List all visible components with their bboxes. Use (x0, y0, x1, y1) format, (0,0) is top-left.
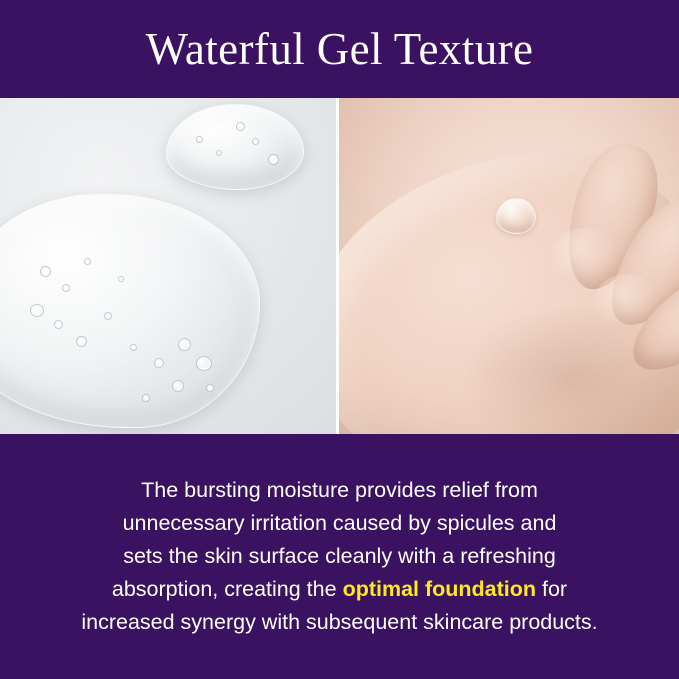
header-band: Waterful Gel Texture (0, 0, 679, 98)
image-band (0, 98, 679, 434)
caption-band: The bursting moisture provides relief fr… (0, 434, 679, 679)
bubble-icon (196, 136, 203, 143)
caption-line-4-before: absorption, creating the (112, 577, 343, 601)
gel-on-hand (336, 98, 679, 434)
bubble-icon (178, 338, 191, 351)
bubble-icon (268, 154, 279, 165)
bubble-icon (206, 384, 214, 392)
bubble-icon (154, 358, 164, 368)
bubble-icon (54, 320, 63, 329)
wrist-shadow (459, 304, 679, 434)
bubble-icon (40, 266, 51, 277)
caption-line-2: unnecessary irritation caused by spicule… (123, 511, 557, 535)
bubble-icon (172, 380, 184, 392)
bubble-icon (252, 138, 259, 145)
caption-line-3: sets the skin surface cleanly with a ref… (123, 544, 556, 568)
bubble-icon (130, 344, 137, 351)
caption-line-1: The bursting moisture provides relief fr… (141, 478, 538, 502)
panel-divider (336, 98, 339, 434)
bubble-icon (196, 356, 212, 371)
gel-texture-closeup (0, 98, 336, 434)
caption-highlight: optimal foundation (343, 577, 536, 601)
bubble-icon (104, 312, 112, 320)
caption-line-4-after: for (536, 577, 567, 601)
gel-droplet (496, 198, 536, 234)
bubble-icon (216, 150, 222, 156)
product-detail-card: Waterful Gel Texture (0, 0, 679, 679)
bubble-icon (76, 336, 87, 347)
bubble-icon (62, 284, 70, 292)
bubble-icon (236, 122, 245, 131)
bubble-icon (142, 394, 150, 402)
page-title: Waterful Gel Texture (146, 27, 534, 72)
bubble-icon (30, 304, 44, 317)
caption-line-5: increased synergy with subsequent skinca… (81, 610, 597, 634)
caption-text: The bursting moisture provides relief fr… (81, 474, 597, 639)
bubble-icon (84, 258, 91, 265)
bubble-icon (118, 276, 124, 282)
gel-blob-small (166, 104, 304, 190)
